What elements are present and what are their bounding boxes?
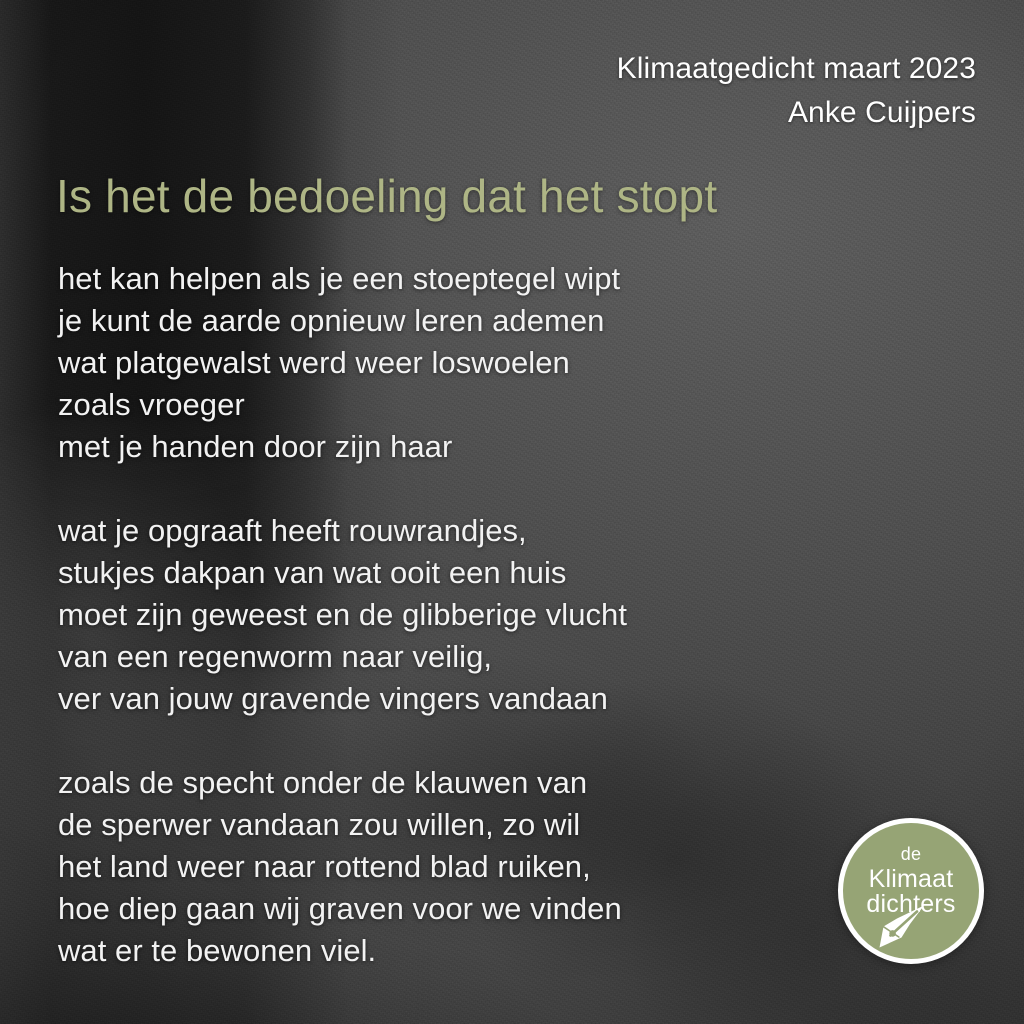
series-title: Klimaatgedicht maart 2023: [617, 47, 976, 91]
poem-line: wat platgewalst werd weer loswoelen: [58, 342, 758, 384]
poem-line: het kan helpen als je een stoeptegel wip…: [58, 258, 758, 300]
logo-line-de: de: [843, 842, 979, 867]
poem-line: moet zijn geweest en de glibberige vluch…: [58, 594, 758, 636]
poem-stanza: zoals de specht onder de klauwen van de …: [58, 762, 758, 972]
poem-line: wat er te bewonen viel.: [58, 930, 758, 972]
poem-line: wat je opgraaft heeft rouwrandjes,: [58, 510, 758, 552]
poem-line: hoe diep gaan wij graven voor we vinden: [58, 888, 758, 930]
poem-line: ver van jouw gravende vingers vandaan: [58, 678, 758, 720]
climate-poem-card: Klimaatgedicht maart 2023 Anke Cuijpers …: [0, 0, 1024, 1024]
fountain-pen-nib-icon: [877, 904, 939, 950]
poem-stanza: het kan helpen als je een stoeptegel wip…: [58, 258, 758, 468]
card-content: Klimaatgedicht maart 2023 Anke Cuijpers …: [0, 0, 1024, 1024]
poem-stanza: wat je opgraaft heeft rouwrandjes, stukj…: [58, 510, 758, 720]
klimaatdichters-logo[interactable]: de Klimaat dichters: [838, 818, 984, 964]
poem-body: het kan helpen als je een stoeptegel wip…: [58, 258, 758, 972]
author-name: Anke Cuijpers: [617, 91, 976, 135]
credit-block: Klimaatgedicht maart 2023 Anke Cuijpers: [617, 47, 976, 135]
poem-line: stukjes dakpan van wat ooit een huis: [58, 552, 758, 594]
poem-line: het land weer naar rottend blad ruiken,: [58, 846, 758, 888]
poem-line: met je handen door zijn haar: [58, 426, 758, 468]
poem-title: Is het de bedoeling dat het stopt: [56, 168, 717, 224]
poem-line: van een regenworm naar veilig,: [58, 636, 758, 678]
poem-line: de sperwer vandaan zou willen, zo wil: [58, 804, 758, 846]
poem-line: je kunt de aarde opnieuw leren ademen: [58, 300, 758, 342]
logo-line-klimaat: Klimaat: [843, 867, 979, 892]
poem-line: zoals de specht onder de klauwen van: [58, 762, 758, 804]
poem-line: zoals vroeger: [58, 384, 758, 426]
